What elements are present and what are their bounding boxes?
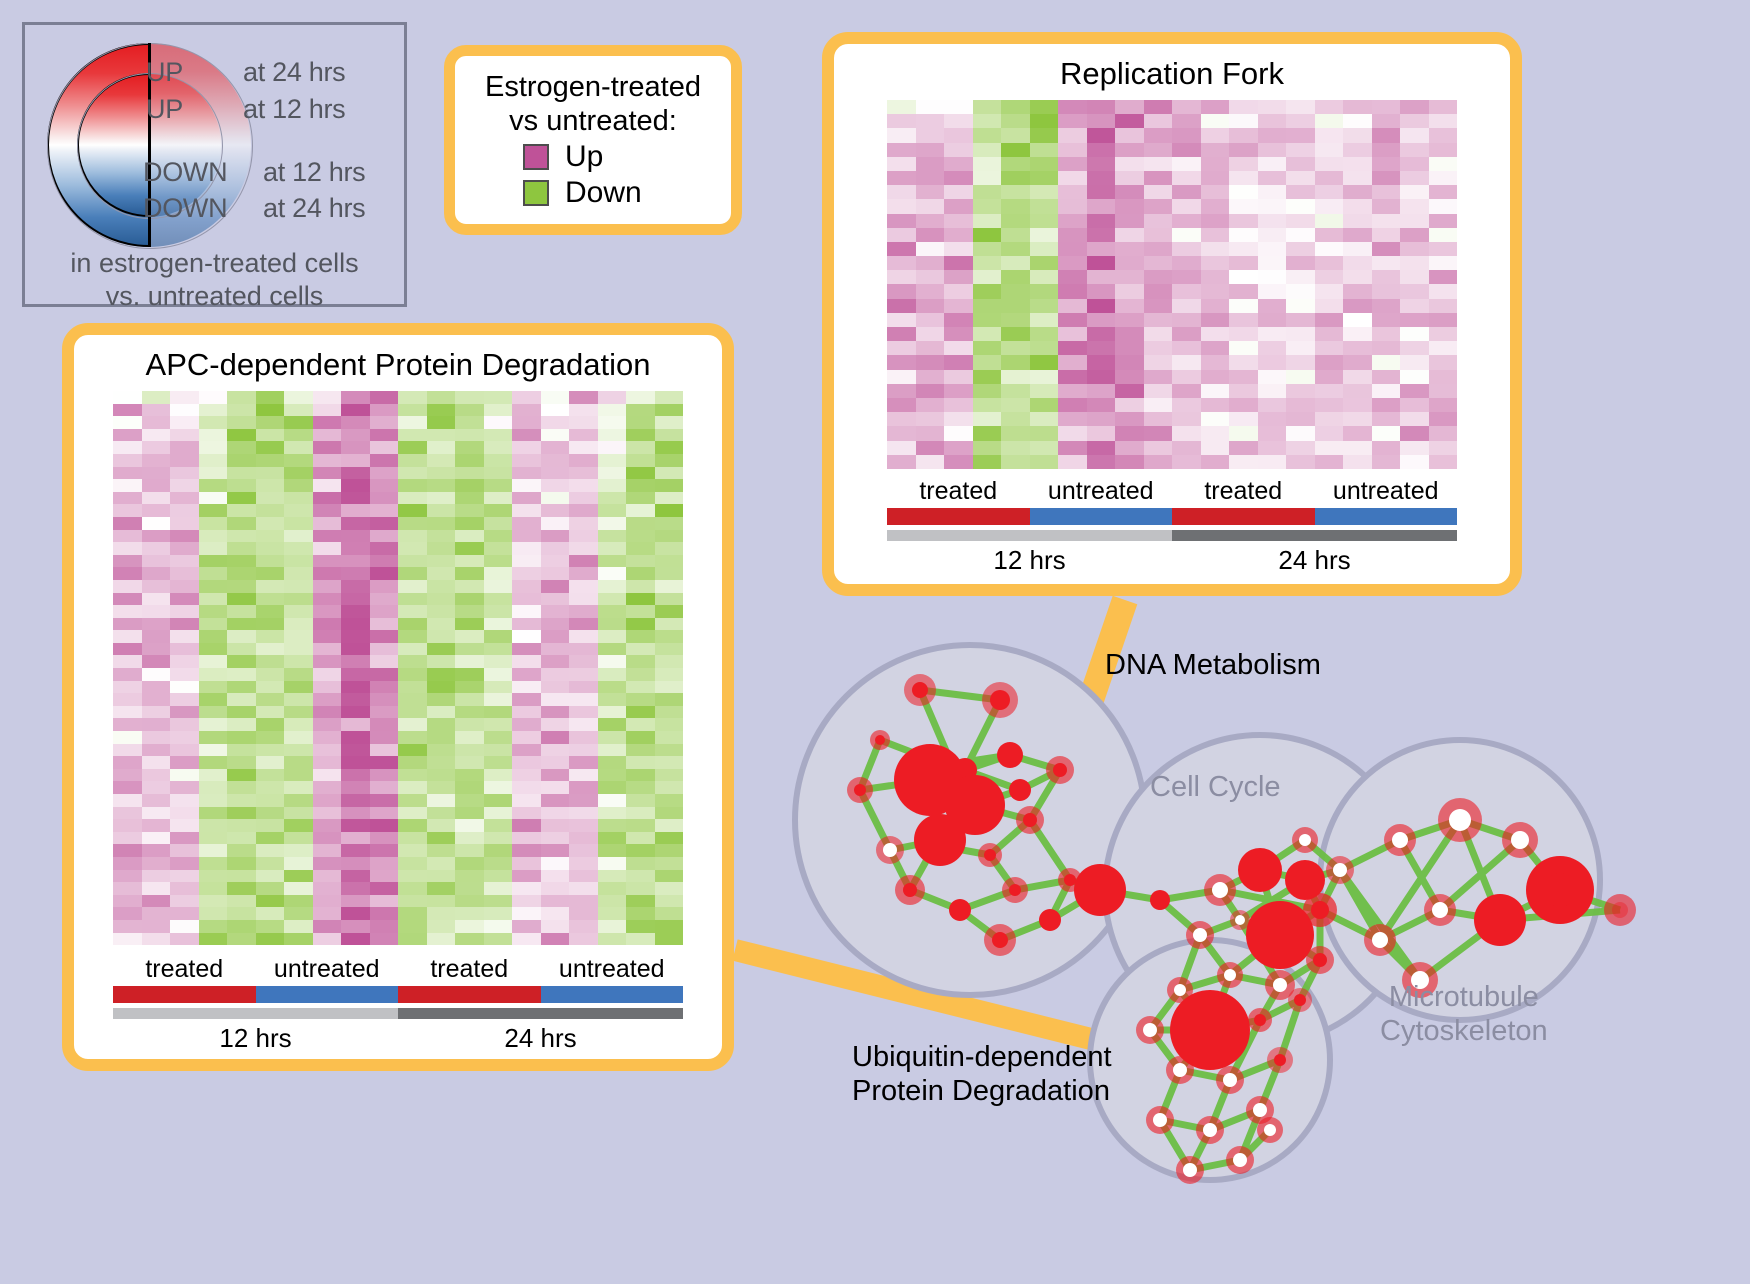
heatmap-cell bbox=[655, 744, 684, 757]
heatmap-cell bbox=[944, 228, 973, 242]
heatmap-cell bbox=[1172, 242, 1201, 256]
heatmap-cell bbox=[1400, 455, 1429, 469]
heatmap-cell bbox=[370, 756, 399, 769]
heatmap-cell bbox=[598, 630, 627, 643]
heatmap-cell bbox=[655, 391, 684, 404]
heatmap-cell bbox=[1315, 299, 1344, 313]
heatmap-cell bbox=[541, 479, 570, 492]
heatmap-cell bbox=[1372, 100, 1401, 114]
heatmap-cell bbox=[256, 441, 285, 454]
heatmap-cell bbox=[227, 870, 256, 883]
heatmap-cell bbox=[655, 504, 684, 517]
heatmap-cell bbox=[1172, 143, 1201, 157]
heatmap-cell bbox=[1144, 157, 1173, 171]
heatmap-cell bbox=[142, 907, 171, 920]
heatmap-cell bbox=[598, 933, 627, 946]
heatmap-cell bbox=[1400, 143, 1429, 157]
heatmap-cell bbox=[1001, 299, 1030, 313]
heatmap-cell bbox=[1229, 143, 1258, 157]
heatmap-cell bbox=[887, 398, 916, 412]
heatmap-cell bbox=[655, 731, 684, 744]
heatmap-cell bbox=[1258, 157, 1287, 171]
heatmap-cell bbox=[284, 643, 313, 656]
heatmap-cell bbox=[1286, 384, 1315, 398]
heatmap-cell bbox=[541, 933, 570, 946]
heatmap-cell bbox=[313, 756, 342, 769]
heatmap-cell bbox=[1030, 384, 1059, 398]
heatmap-cell bbox=[1115, 128, 1144, 142]
heatmap-cell bbox=[1201, 426, 1230, 440]
heatmap-cell bbox=[655, 479, 684, 492]
heatmap-cell bbox=[398, 479, 427, 492]
heatmap-cell bbox=[284, 895, 313, 908]
heatmap-cell bbox=[398, 756, 427, 769]
heatmap-cell bbox=[256, 492, 285, 505]
heatmap-cell bbox=[1144, 412, 1173, 426]
heatmap-cell bbox=[626, 807, 655, 820]
heatmap-cell bbox=[1343, 398, 1372, 412]
heatmap-cell bbox=[484, 479, 513, 492]
heatmap-cell bbox=[427, 668, 456, 681]
heatmap-cell bbox=[1115, 100, 1144, 114]
heatmap-cell bbox=[142, 416, 171, 429]
heatmap-cell bbox=[455, 794, 484, 807]
heatmap-cell bbox=[1087, 270, 1116, 284]
heatmap-cell bbox=[1372, 327, 1401, 341]
heatmap-cell bbox=[199, 819, 228, 832]
time-label-0: 12 hrs bbox=[887, 545, 1172, 576]
heatmap-cell bbox=[1058, 199, 1087, 213]
heatmap-cell bbox=[1144, 284, 1173, 298]
heatmap-cell bbox=[284, 605, 313, 618]
heatmap-cell bbox=[455, 504, 484, 517]
heatmap-cell bbox=[541, 630, 570, 643]
heatmap-cell bbox=[944, 242, 973, 256]
heatmap-cell bbox=[1201, 228, 1230, 242]
heatmap-cell bbox=[1315, 171, 1344, 185]
heatmap-cell bbox=[887, 214, 916, 228]
heatmap-cell bbox=[598, 429, 627, 442]
heatmap-cell bbox=[1172, 270, 1201, 284]
heatmap-cell bbox=[484, 441, 513, 454]
heatmap-cell bbox=[598, 882, 627, 895]
heatmap-cell bbox=[1286, 299, 1315, 313]
heatmap-cell bbox=[944, 327, 973, 341]
heatmap-cell bbox=[199, 844, 228, 857]
heatmap-cell bbox=[455, 731, 484, 744]
heatmap-cell bbox=[1400, 370, 1429, 384]
heatmap-cell bbox=[370, 794, 399, 807]
heatmap-cell bbox=[1030, 299, 1059, 313]
heatmap-cell bbox=[398, 605, 427, 618]
heatmap-cell bbox=[1030, 412, 1059, 426]
heatmap-cell bbox=[569, 655, 598, 668]
heatmap-cell bbox=[1343, 143, 1372, 157]
heatmap-cell bbox=[427, 756, 456, 769]
heatmap-cell bbox=[887, 100, 916, 114]
heatmap-cell bbox=[626, 933, 655, 946]
heatmap-cell bbox=[227, 542, 256, 555]
heatmap-cell bbox=[256, 756, 285, 769]
heatmap-cell bbox=[1201, 441, 1230, 455]
heatmap-cell bbox=[1087, 228, 1116, 242]
heatmap-cell bbox=[170, 693, 199, 706]
heatmap-cell bbox=[655, 781, 684, 794]
heatmap-cell bbox=[142, 618, 171, 631]
heatmap-cell bbox=[256, 479, 285, 492]
heatmap-cell bbox=[484, 769, 513, 782]
heatmap-cell bbox=[1144, 214, 1173, 228]
heatmap-cell bbox=[170, 429, 199, 442]
heatmap-cell bbox=[1144, 455, 1173, 469]
heatmap-cell bbox=[1258, 171, 1287, 185]
heatmap-cell bbox=[398, 718, 427, 731]
heatmap-cell bbox=[1229, 284, 1258, 298]
heatmap-cell bbox=[1286, 341, 1315, 355]
heatmap-cell bbox=[1030, 284, 1059, 298]
heatmap-cell bbox=[370, 769, 399, 782]
heatmap-cell bbox=[1315, 228, 1344, 242]
heatmap-cell bbox=[887, 242, 916, 256]
heatmap-cell bbox=[455, 517, 484, 530]
heatmap-cell bbox=[370, 882, 399, 895]
heatmap-cell bbox=[170, 769, 199, 782]
heatmap-cell bbox=[142, 920, 171, 933]
heatmap-cell bbox=[1087, 455, 1116, 469]
heatmap-cell bbox=[1229, 256, 1258, 270]
heatmap-cell bbox=[370, 580, 399, 593]
heatmap-cell bbox=[484, 731, 513, 744]
heatmap-cell bbox=[427, 718, 456, 731]
heatmap-cell bbox=[227, 467, 256, 480]
heatmap-cell bbox=[598, 618, 627, 631]
heatmap-cell bbox=[170, 744, 199, 757]
heatmap-cell bbox=[199, 504, 228, 517]
heatmap-cell bbox=[1115, 370, 1144, 384]
heatmap-cell bbox=[341, 618, 370, 631]
heatmap-cell bbox=[655, 832, 684, 845]
heatmap-cell bbox=[1201, 284, 1230, 298]
heatmap-cell bbox=[1087, 441, 1116, 455]
heatmap-cell bbox=[484, 756, 513, 769]
heatmap-cell bbox=[227, 504, 256, 517]
heatmap-cell bbox=[598, 907, 627, 920]
cluster-label-dna-metabolism: DNA Metabolism bbox=[1105, 648, 1321, 682]
heatmap-cell bbox=[887, 199, 916, 213]
heatmap-cell bbox=[512, 832, 541, 845]
heatmap-cell bbox=[1343, 228, 1372, 242]
heatmap-cell bbox=[1372, 185, 1401, 199]
heatmap-cell bbox=[655, 819, 684, 832]
heatmap-cell bbox=[427, 567, 456, 580]
heatmap-cell bbox=[1087, 256, 1116, 270]
heatmap-cell bbox=[313, 555, 342, 568]
heatmap-cell bbox=[484, 920, 513, 933]
heatmap-cell bbox=[598, 567, 627, 580]
condition-bar-segment-untreated bbox=[1315, 508, 1458, 525]
heatmap-cell bbox=[655, 693, 684, 706]
heatmap-cell bbox=[1343, 100, 1372, 114]
heatmap-cell bbox=[626, 454, 655, 467]
legend-strip-replication-fork: treateduntreatedtreateduntreated 12 hrs2… bbox=[887, 477, 1457, 576]
heatmap-cell bbox=[598, 706, 627, 719]
heatmap-cell bbox=[398, 794, 427, 807]
heatmap-cell bbox=[569, 593, 598, 606]
heatmap-cell bbox=[626, 920, 655, 933]
heatmap-cell bbox=[142, 769, 171, 782]
heatmap-cell bbox=[1286, 199, 1315, 213]
heatmap-cell bbox=[512, 605, 541, 618]
heatmap-cell bbox=[113, 920, 142, 933]
heatmap-cell bbox=[484, 706, 513, 719]
heatmap-cell bbox=[370, 630, 399, 643]
heatmap-cell bbox=[284, 807, 313, 820]
heatmap-cell bbox=[341, 756, 370, 769]
heatmap-cell bbox=[284, 870, 313, 883]
heatmap-cell bbox=[398, 530, 427, 543]
heatmap-cell bbox=[1315, 270, 1344, 284]
heatmap-cell bbox=[655, 882, 684, 895]
heatmap-cell bbox=[1115, 412, 1144, 426]
heatmap-cell bbox=[973, 228, 1002, 242]
heatmap-cell bbox=[569, 807, 598, 820]
heatmap-cell bbox=[1429, 455, 1458, 469]
heatmap-cell bbox=[1058, 228, 1087, 242]
heatmap-replication-fork bbox=[887, 100, 1457, 469]
heatmap-cell bbox=[944, 185, 973, 199]
heatmap-cell bbox=[1030, 313, 1059, 327]
heatmap-cell bbox=[512, 542, 541, 555]
heatmap-cell bbox=[541, 769, 570, 782]
heatmap-cell bbox=[1115, 143, 1144, 157]
condition-labels-rf: treateduntreatedtreateduntreated bbox=[887, 477, 1457, 506]
heatmap-cell bbox=[944, 355, 973, 369]
heatmap-cell bbox=[284, 429, 313, 442]
heatmap-cell bbox=[1229, 313, 1258, 327]
heatmap-cell bbox=[973, 214, 1002, 228]
heatmap-cell bbox=[512, 706, 541, 719]
heatmap-cell bbox=[113, 807, 142, 820]
heatmap-cell bbox=[541, 781, 570, 794]
heatmap-cell bbox=[427, 895, 456, 908]
heatmap-cell bbox=[569, 504, 598, 517]
heatmap-cell bbox=[655, 580, 684, 593]
heatmap-cell bbox=[1372, 171, 1401, 185]
heatmap-cell bbox=[598, 643, 627, 656]
heatmap-cell bbox=[484, 429, 513, 442]
heatmap-cell bbox=[427, 530, 456, 543]
heatmap-cell bbox=[341, 605, 370, 618]
heatmap-cell bbox=[284, 844, 313, 857]
condition-bar-segment-treated bbox=[1172, 508, 1315, 525]
heatmap-cell bbox=[199, 643, 228, 656]
heatmap-cell bbox=[170, 441, 199, 454]
heatmap-cell bbox=[113, 530, 142, 543]
heatmap-cell bbox=[973, 341, 1002, 355]
heatmap-cell bbox=[370, 693, 399, 706]
heatmap-cell bbox=[1229, 341, 1258, 355]
heatmap-cell bbox=[199, 807, 228, 820]
heatmap-cell bbox=[1087, 171, 1116, 185]
heatmap-cell bbox=[455, 618, 484, 631]
heatmap-cell bbox=[973, 114, 1002, 128]
heatmap-cell bbox=[313, 693, 342, 706]
heatmap-cell bbox=[370, 681, 399, 694]
heatmap-cell bbox=[398, 429, 427, 442]
heatmap-cell bbox=[1087, 128, 1116, 142]
heatmap-cell bbox=[973, 185, 1002, 199]
heatmap-cell bbox=[1229, 185, 1258, 199]
heatmap-cell bbox=[313, 794, 342, 807]
heatmap-cell bbox=[455, 555, 484, 568]
heatmap-cell bbox=[1058, 284, 1087, 298]
condition-bar-segment-untreated bbox=[541, 986, 684, 1003]
heatmap-cell bbox=[170, 643, 199, 656]
wheel-time-down-24: at 24 hrs bbox=[263, 193, 365, 224]
heatmap-cell bbox=[598, 416, 627, 429]
heatmap-cell bbox=[569, 794, 598, 807]
heatmap-cell bbox=[1001, 284, 1030, 298]
heatmap-cell bbox=[541, 895, 570, 908]
heatmap-cell bbox=[1144, 114, 1173, 128]
heatmap-cell bbox=[569, 882, 598, 895]
heatmap-cell bbox=[1343, 341, 1372, 355]
heatmap-cell bbox=[370, 530, 399, 543]
heatmap-cell bbox=[1087, 284, 1116, 298]
heatmap-cell bbox=[512, 567, 541, 580]
heatmap-cell bbox=[1030, 398, 1059, 412]
heatmap-cell bbox=[887, 128, 916, 142]
heatmap-cell bbox=[512, 681, 541, 694]
heatmap-cell bbox=[512, 769, 541, 782]
heatmap-cell bbox=[1315, 313, 1344, 327]
heatmap-cell bbox=[1058, 256, 1087, 270]
heatmap-cell bbox=[142, 857, 171, 870]
heatmap-cell bbox=[370, 718, 399, 731]
heatmap-cell bbox=[427, 907, 456, 920]
heatmap-cell bbox=[170, 668, 199, 681]
heatmap-cell bbox=[1001, 398, 1030, 412]
heatmap-cell bbox=[199, 895, 228, 908]
heatmap-cell bbox=[227, 655, 256, 668]
heatmap-cell bbox=[341, 681, 370, 694]
heatmap-cell bbox=[284, 718, 313, 731]
heatmap-cell bbox=[887, 384, 916, 398]
heatmap-cell bbox=[142, 844, 171, 857]
heatmap-cell bbox=[227, 882, 256, 895]
heatmap-cell bbox=[142, 630, 171, 643]
heatmap-cell bbox=[1400, 128, 1429, 142]
heatmap-cell bbox=[1286, 270, 1315, 284]
heatmap-cell bbox=[1058, 185, 1087, 199]
wheel-label-up-24: UP bbox=[146, 57, 183, 88]
heatmap-cell bbox=[916, 100, 945, 114]
heatmap-cell bbox=[655, 857, 684, 870]
heatmap-cell bbox=[113, 404, 142, 417]
heatmap-cell bbox=[655, 655, 684, 668]
heatmap-cell bbox=[199, 668, 228, 681]
heatmap-cell bbox=[626, 467, 655, 480]
heatmap-cell bbox=[199, 429, 228, 442]
heatmap-cell bbox=[113, 693, 142, 706]
heatmap-cell bbox=[512, 895, 541, 908]
heatmap-cell bbox=[227, 807, 256, 820]
heatmap-cell bbox=[916, 128, 945, 142]
heatmap-cell bbox=[1087, 214, 1116, 228]
heatmap-cell bbox=[113, 756, 142, 769]
heatmap-cell bbox=[916, 228, 945, 242]
heatmap-cell bbox=[916, 441, 945, 455]
heatmap-cell bbox=[1144, 341, 1173, 355]
heatmap-cell bbox=[1001, 256, 1030, 270]
heatmap-cell bbox=[541, 429, 570, 442]
wheel-footer-line2: vs. untreated cells bbox=[25, 280, 404, 313]
heatmap-cell bbox=[1201, 299, 1230, 313]
heatmap-cell bbox=[427, 593, 456, 606]
heatmap-cell bbox=[598, 530, 627, 543]
heatmap-cell bbox=[1372, 313, 1401, 327]
heatmap-cell bbox=[170, 819, 199, 832]
heatmap-cell bbox=[341, 542, 370, 555]
heatmap-cell bbox=[313, 630, 342, 643]
heatmap-cell bbox=[1201, 256, 1230, 270]
heatmap-cell bbox=[598, 693, 627, 706]
heatmap-cell bbox=[341, 479, 370, 492]
heatmap-cell bbox=[1115, 171, 1144, 185]
heatmap-cell bbox=[313, 895, 342, 908]
heatmap-cell bbox=[1343, 384, 1372, 398]
heatmap-cell bbox=[1030, 185, 1059, 199]
heatmap-cell bbox=[916, 313, 945, 327]
heatmap-cell bbox=[170, 681, 199, 694]
heatmap-cell bbox=[655, 681, 684, 694]
heatmap-cell bbox=[1258, 426, 1287, 440]
heatmap-cell bbox=[1286, 284, 1315, 298]
heatmap-cell bbox=[256, 718, 285, 731]
heatmap-cell bbox=[284, 756, 313, 769]
heatmap-cell bbox=[427, 920, 456, 933]
heatmap-cell bbox=[398, 882, 427, 895]
condition-label-1: untreated bbox=[256, 955, 399, 984]
heatmap-cell bbox=[170, 794, 199, 807]
heatmap-cell bbox=[170, 580, 199, 593]
heatmap-cell bbox=[1229, 327, 1258, 341]
heatmap-cell bbox=[398, 769, 427, 782]
heatmap-cell bbox=[1229, 270, 1258, 284]
heatmap-cell bbox=[227, 593, 256, 606]
heatmap-cell bbox=[541, 467, 570, 480]
heatmap-cell bbox=[113, 907, 142, 920]
heatmap-cell bbox=[1201, 214, 1230, 228]
heatmap-cell bbox=[598, 794, 627, 807]
heatmap-cell bbox=[916, 426, 945, 440]
heatmap-cell bbox=[1058, 327, 1087, 341]
heatmap-cell bbox=[455, 593, 484, 606]
heatmap-cell bbox=[541, 907, 570, 920]
heatmap-cell bbox=[1087, 370, 1116, 384]
heatmap-cell bbox=[1144, 185, 1173, 199]
heatmap-cell bbox=[199, 693, 228, 706]
heatmap-cell bbox=[455, 404, 484, 417]
heatmap-cell bbox=[598, 857, 627, 870]
heatmap-cell bbox=[626, 706, 655, 719]
heatmap-cell bbox=[398, 731, 427, 744]
heatmap-cell bbox=[655, 429, 684, 442]
heatmap-cell bbox=[199, 794, 228, 807]
heatmap-cell bbox=[916, 299, 945, 313]
condition-bar-segment-treated bbox=[398, 986, 541, 1003]
heatmap-cell bbox=[170, 467, 199, 480]
